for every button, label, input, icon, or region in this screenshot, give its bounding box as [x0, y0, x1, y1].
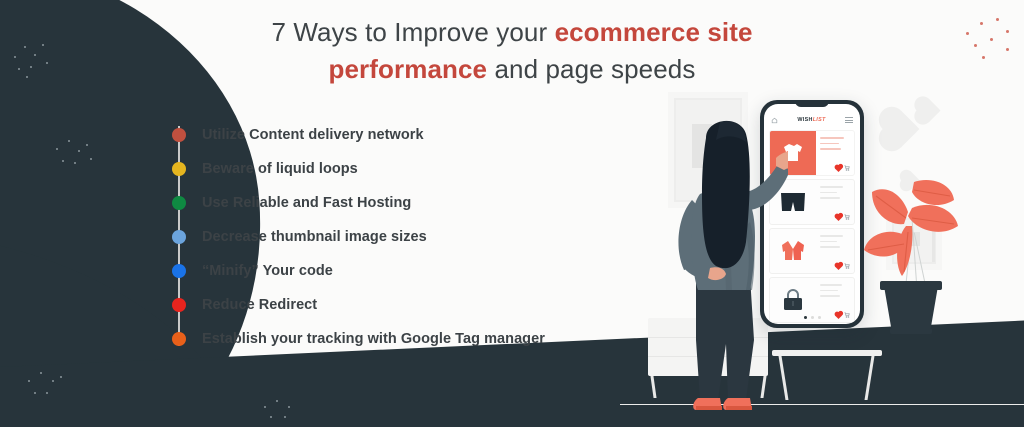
cabinet-leg	[650, 376, 656, 398]
list-item[interactable]: “Minify” Your code	[172, 254, 602, 288]
cart-icon[interactable]	[844, 214, 850, 220]
list-item-label: Establish your tracking with Google Tag …	[202, 331, 545, 347]
brand-dark-text: WISH	[797, 117, 812, 123]
pagination-dot[interactable]	[811, 316, 814, 319]
woman-figure	[658, 108, 788, 413]
heart-icon[interactable]	[835, 262, 842, 269]
brand-accent-text: LIST	[813, 117, 826, 123]
infographic-canvas: 7 Ways to Improve your ecommerce site pe…	[0, 0, 1024, 427]
product-actions[interactable]	[836, 165, 850, 171]
list-item-label: Utilize Content delivery network	[202, 127, 424, 143]
product-info	[816, 229, 854, 273]
hamburger-icon[interactable]	[845, 117, 853, 123]
woman-body	[658, 108, 788, 413]
list-item-label: “Minify” Your code	[202, 263, 333, 279]
product-info	[816, 180, 854, 224]
list-item[interactable]: Decrease thumbnail image sizes	[172, 220, 602, 254]
list-item[interactable]: Beware of liquid loops	[172, 152, 602, 186]
plant-pot	[884, 286, 938, 330]
product-actions[interactable]	[836, 263, 850, 269]
list-item[interactable]: Use Reliable and Fast Hosting	[172, 186, 602, 220]
list-item-label: Reduce Redirect	[202, 297, 317, 313]
potted-plant	[858, 172, 968, 334]
bullet-dot-icon	[172, 230, 186, 244]
illustration-scene: WISHLIST	[620, 0, 1024, 427]
app-brand: WISHLIST	[797, 117, 825, 123]
list-item[interactable]: Establish your tracking with Google Tag …	[172, 322, 602, 356]
heart-icon[interactable]	[835, 164, 842, 171]
dot-cluster-bottom-left	[26, 368, 74, 402]
pagination-dot[interactable]	[818, 316, 821, 319]
dot-cluster-top-left	[12, 40, 62, 80]
title-line-1-plain: 7 Ways to Improve your	[271, 17, 554, 47]
product-actions[interactable]	[836, 214, 850, 220]
list-item-label: Beware of liquid loops	[202, 161, 358, 177]
phone-notch	[795, 100, 829, 107]
bullet-dot-icon	[172, 298, 186, 312]
list-item[interactable]: Utilize Content delivery network	[172, 118, 602, 152]
pagination-dot-active[interactable]	[804, 316, 807, 319]
bullet-dot-icon	[172, 162, 186, 176]
dot-cluster-middle-left	[52, 138, 98, 172]
list-item-label: Decrease thumbnail image sizes	[202, 229, 427, 245]
cart-icon[interactable]	[844, 165, 850, 171]
heart-icon[interactable]	[835, 213, 842, 220]
table-top	[772, 350, 882, 356]
bullet-dot-icon	[172, 332, 186, 346]
cart-icon[interactable]	[844, 263, 850, 269]
list-item[interactable]: Reduce Redirect	[172, 288, 602, 322]
heart-shape-icon	[916, 98, 940, 122]
plant-pot-base	[890, 329, 932, 334]
bullet-dot-icon	[172, 264, 186, 278]
tips-list: Utilize Content delivery network Beware …	[172, 118, 602, 356]
dot-cluster-bottom-center	[262, 398, 310, 424]
plant-leaves	[858, 172, 968, 292]
bullet-dot-icon	[172, 128, 186, 142]
product-info	[816, 131, 854, 175]
title-line-2-accent: performance	[329, 54, 488, 84]
list-item-label: Use Reliable and Fast Hosting	[202, 195, 411, 211]
bullet-dot-icon	[172, 196, 186, 210]
table-leg	[865, 356, 875, 400]
